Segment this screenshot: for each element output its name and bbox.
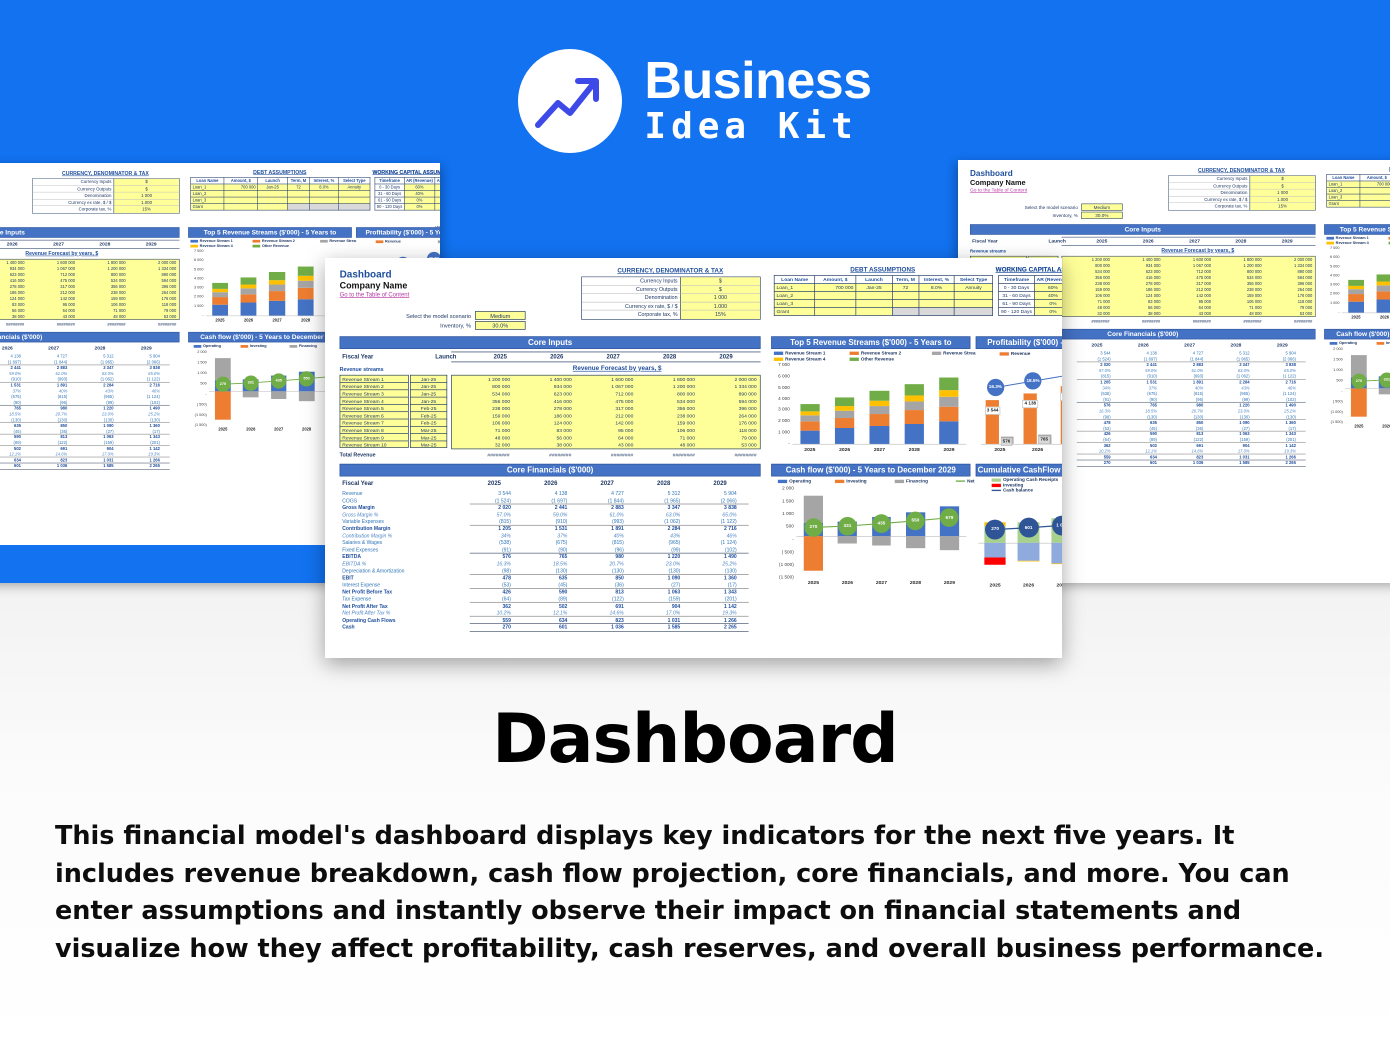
table-row: 90 - 120 Days0%40% [375, 204, 440, 211]
revenue-forecast-cell[interactable]: 623 000 [513, 390, 575, 397]
dashboard-screenshot-main[interactable]: DashboardCompany NameGo to the Table of … [325, 258, 1062, 658]
revenue-forecast-cell[interactable]: 48 000 [452, 434, 514, 441]
revenue-forecast-cell[interactable]: 278 000 [513, 405, 575, 412]
debt-cell[interactable] [224, 204, 257, 211]
cf-row-value: 1 220 [85, 406, 113, 411]
cf-row-label: Contribution Margin [342, 526, 390, 532]
cf-row-value: 34% [476, 533, 511, 539]
revenue-forecast-cell[interactable]: 159 000 [452, 412, 514, 419]
cf-row-value: 2 284 [646, 526, 681, 532]
revenue-forecast-cell[interactable]: 416 000 [513, 397, 575, 404]
revenue-forecast-cell[interactable]: 356 000 [637, 405, 699, 412]
cf-row-value: 980 [1175, 403, 1203, 408]
core-financials-header: Core Financials ($'000) [340, 464, 761, 477]
cf-row-value: 576 [476, 554, 511, 560]
cf-rule [0, 405, 170, 406]
chart-profitability[interactable]: Profitability ($'000) - 5 Years to Decem… [976, 336, 1062, 460]
bar-segment [269, 272, 285, 280]
revenue-forecast-cell[interactable]: 43 000 [1163, 310, 1214, 316]
wc-cell[interactable]: 60% [1034, 284, 1062, 292]
table-row: Revenue3 5444 1384 7275 3125 904 [340, 490, 761, 497]
debt-cell[interactable] [892, 307, 918, 315]
cf-row-value: 691 [1175, 443, 1203, 448]
table-row: 0 - 30 Days60%10% [999, 284, 1062, 292]
revenue-stream-name[interactable]: Revenue Stream 1 [340, 375, 409, 382]
cf-row-value: 46% [1268, 385, 1296, 390]
company-name: Company Name [970, 179, 1026, 187]
wc-cell[interactable]: 90 - 120 Days [999, 307, 1035, 315]
revenue-forecast-caption: Revenue Forecast by years, $ [0, 251, 176, 257]
cf-row-label: EBITDA [342, 554, 361, 560]
wc-cell[interactable]: 0 - 30 Days [375, 184, 404, 191]
cf-row-value: (965) [1221, 391, 1249, 396]
wc-cell[interactable]: 0% [1034, 300, 1062, 308]
revenue-forecast-cell[interactable]: 106 000 [637, 427, 699, 434]
revenue-forecast-cell[interactable]: 1 200 000 [637, 383, 699, 390]
chart-cashflow[interactable]: Cash flow ($'000) - 5 Years to December … [1324, 329, 1390, 436]
bar-segment [904, 395, 923, 401]
revenue-forecast-cell[interactable]: 38 000 [0, 313, 27, 319]
bar-segment [1377, 291, 1390, 300]
cf-row-value: (815) [589, 540, 624, 546]
table-row: EBITDA %16.3%18.5%20.7%23.0%25.2% [0, 412, 180, 417]
currency-row-value[interactable]: 1.000 [114, 199, 179, 206]
cf-row-value: 40% [39, 388, 67, 393]
bar-segment [939, 378, 958, 390]
currency-row-value[interactable]: 1 000 [1250, 190, 1315, 197]
currency-row: Denomination1 000 [33, 193, 179, 200]
revenue-stream-name[interactable]: Revenue Stream 6 [340, 411, 409, 418]
wc-cell[interactable]: 31 - 60 Days [375, 191, 404, 198]
revenue-forecast-cell[interactable]: 38 000 [1113, 310, 1164, 316]
revenue-forecast-row: 800 000934 0001 067 0001 200 0001 334 00… [452, 383, 760, 390]
legend-swatch [253, 240, 261, 243]
chart-top5-revenue[interactable]: Top 5 Revenue Streams ($'000) - 5 Years … [771, 336, 970, 460]
legend-swatch [850, 357, 859, 360]
cf-row-value: 635 [1129, 420, 1157, 425]
debt-cell[interactable] [919, 307, 955, 315]
wc-cell[interactable]: 61 - 90 Days [999, 300, 1035, 308]
revenue-forecast-cell[interactable]: 79 000 [698, 434, 760, 441]
inventory-input[interactable]: 30.0% [475, 321, 525, 330]
revenue-stream-launch[interactable]: Feb-25 [410, 419, 447, 426]
legend-swatch [190, 240, 198, 243]
y-tick: 4 000 [771, 396, 790, 401]
debt-cell[interactable] [919, 300, 955, 308]
cf-fiscal-row: Fiscal Year20252026202720282029 [0, 345, 180, 352]
debt-cell[interactable] [954, 307, 992, 315]
chart-cashflow[interactable]: Cash flow ($'000) - 5 Years to December … [771, 464, 970, 594]
y-tick: 7 000 [771, 363, 790, 368]
revenue-forecast-cell[interactable]: 1 600 000 [575, 376, 637, 383]
currency-row-label: Currency Inputs [1169, 176, 1250, 183]
revenue-forecast-cell[interactable]: 534 000 [452, 390, 514, 397]
bar-segment [212, 283, 228, 289]
currency-row-value[interactable]: $ [114, 186, 179, 193]
total-revenue-cell: ######## [636, 452, 694, 458]
data-bubble-net-cash: 550 [906, 512, 925, 531]
revenue-stream-launch[interactable]: Jan-25 [410, 389, 447, 396]
debt-col-header: Select Type [954, 276, 992, 284]
wc-cell[interactable]: 40% [435, 204, 440, 211]
bar-segment [835, 428, 854, 444]
revenue-stream-name[interactable]: Revenue Stream 8 [340, 426, 409, 433]
bar-segment [904, 401, 923, 410]
fiscal-year-label: Fiscal Year [342, 353, 395, 360]
revenue-stream-launch[interactable]: Jan-25 [410, 375, 447, 382]
bar-segment [269, 280, 285, 284]
debt-cell[interactable] [309, 204, 338, 211]
debt-cell[interactable]: Loan_1 [774, 284, 815, 292]
debt-cell[interactable] [892, 300, 918, 308]
cf-row-value: 5 312 [85, 354, 113, 359]
revenue-forecast-cell[interactable]: 1 334 000 [698, 383, 760, 390]
chart-top5-revenue[interactable]: Top 5 Revenue Streams ($'000) - 5 Years … [1324, 224, 1390, 325]
revenue-stream-launches: Jan-25Jan-25Jan-25Jan-25Feb-25Feb-25Feb-… [410, 375, 447, 448]
toc-link[interactable]: Go to the Table of Content [970, 187, 1027, 192]
debt-cell[interactable] [954, 300, 992, 308]
cf-row-value: 478 [476, 575, 511, 581]
cf-row-value: 502 [533, 603, 568, 609]
revenue-forecast-cell[interactable]: 934 000 [513, 383, 575, 390]
debt-cell[interactable] [856, 307, 893, 315]
cf-row-value: (538) [476, 540, 511, 546]
cf-row-value: 1 490 [132, 406, 160, 411]
bar-segment [241, 278, 257, 285]
toc-link[interactable]: Go to the Table of Content [340, 291, 410, 298]
currency-row-value[interactable]: 1 000 [680, 294, 760, 302]
currency-row: Corporate tax, %15% [582, 311, 760, 319]
cf-row-value: 18.5% [0, 412, 21, 417]
cf-rule [0, 457, 170, 458]
debt-cell[interactable]: Loan_2 [774, 292, 815, 300]
cf-row-value: 40% [589, 533, 624, 539]
debt-cell[interactable] [815, 292, 856, 300]
wc-cell[interactable]: 0 - 30 Days [999, 284, 1035, 292]
bar-segment [241, 303, 257, 316]
y-tick: 5 000 [1324, 264, 1339, 268]
revenue-forecast-cell[interactable]: 124 000 [513, 419, 575, 426]
page-description: This financial model's dashboard display… [55, 818, 1345, 969]
debt-cell[interactable] [339, 204, 370, 211]
cf-row-value: 59.0% [533, 512, 568, 518]
total-revenue-cell: ######## [1264, 319, 1312, 324]
revenue-forecast-row: 32 00038 00043 00048 00053 000 [1062, 310, 1315, 316]
cf-rule [0, 382, 170, 383]
currency-row-value[interactable]: 15% [1250, 203, 1315, 210]
revenue-forecast-cell[interactable]: 32 000 [452, 441, 514, 448]
debt-cell[interactable]: Grant [191, 204, 224, 211]
chart-legend-item: Revenue Stream 4 [1326, 241, 1368, 245]
cf-row-label: COGS [342, 497, 357, 503]
bar-segment [1377, 300, 1390, 313]
company-name: Company Name [340, 281, 408, 291]
currency-box-title: CURRENCY, DENOMINATOR & TAX [29, 171, 182, 177]
table-row: 31 - 60 Days40%20% [999, 292, 1062, 300]
cf-row-value: 3 544 [476, 490, 511, 496]
cf-rule [0, 364, 170, 365]
revenue-stream-name[interactable]: Revenue Stream 4 [340, 397, 409, 404]
currency-row: Currency Inputs$ [1169, 176, 1315, 183]
cf-row-value: 2 883 [39, 365, 67, 370]
revenue-forecast-cell[interactable]: 317 000 [575, 405, 637, 412]
year-header: 2025 [476, 353, 525, 360]
currency-row: Denomination1 000 [582, 294, 760, 302]
currency-row-value[interactable]: $ [680, 286, 760, 294]
debt-col-header: Interest, % [919, 276, 955, 284]
table-row: Salaries & Wages(538)(675)(815)(965)(1 1… [0, 394, 180, 399]
revenue-forecast-cell[interactable]: 43 000 [27, 313, 78, 319]
currency-row-value[interactable]: $ [1250, 183, 1315, 190]
fiscal-year-row: Fiscal YearLaunch20252026202720282029 [0, 241, 180, 248]
revenue-forecast-cell[interactable]: 2 000 000 [698, 376, 760, 383]
currency-row-value[interactable]: $ [114, 179, 179, 186]
revenue-stream-launch[interactable]: Mar-25 [410, 433, 447, 440]
revenue-forecast-cell[interactable]: 800 000 [637, 390, 699, 397]
debt-cell[interactable] [856, 292, 893, 300]
revenue-stream-name[interactable]: Revenue Stream 3 [340, 389, 409, 396]
scenario-select[interactable]: Medium [1081, 204, 1122, 211]
cf-row-value: 362 [1082, 443, 1110, 448]
revenue-forecast-cell[interactable]: 48 000 [78, 313, 129, 319]
revenue-forecast-cell[interactable]: 238 000 [452, 405, 514, 412]
revenue-forecast-cell[interactable]: 64 000 [575, 434, 637, 441]
debt-cell[interactable]: Loan_3 [774, 300, 815, 308]
cf-row-value: 502 [1129, 443, 1157, 448]
revenue-forecast-cell[interactable]: 71 000 [637, 434, 699, 441]
revenue-stream-name[interactable]: Revenue Stream 2 [340, 382, 409, 389]
year-header: 2026 [532, 353, 581, 360]
revenue-forecast-cell[interactable]: 83 000 [513, 427, 575, 434]
bar-segment [269, 301, 285, 316]
total-revenue-cell: ######## [78, 322, 126, 327]
debt-assumptions-table: Loan NameAmount, $LaunchTerm, MInterest,… [190, 177, 370, 210]
inventory-input[interactable]: 30.0% [1081, 212, 1122, 219]
revenue-forecast-cell[interactable]: 118 000 [698, 427, 760, 434]
cf-row-value: 601 [1129, 461, 1157, 466]
debt-cell[interactable]: Grant [1327, 201, 1360, 208]
wc-cell[interactable]: 40% [1034, 292, 1062, 300]
cf-row-value: (675) [533, 540, 568, 546]
debt-cell[interactable] [815, 300, 856, 308]
cf-row-value: 3 347 [85, 365, 113, 370]
cf-row-value: 2 284 [1221, 380, 1249, 385]
currency-row-value[interactable]: 1.000 [680, 302, 760, 310]
cf-rule [1077, 402, 1306, 403]
revenue-forecast-cell[interactable]: 38 000 [513, 441, 575, 448]
year-header: 2029 [701, 353, 750, 360]
cf-row-value: 635 [0, 423, 21, 428]
revenue-forecast-cell[interactable]: 71 000 [452, 427, 514, 434]
revenue-forecast-cell[interactable]: 800 000 [452, 383, 514, 390]
sheet-title: Dashboard [340, 269, 392, 280]
chart-legend-item: Revenue Stream 4 [774, 357, 826, 362]
debt-cell[interactable] [258, 204, 288, 211]
revenue-forecast-cell[interactable]: 43 000 [575, 441, 637, 448]
wc-cell[interactable]: 31 - 60 Days [999, 292, 1035, 300]
cf-row-value: 18.5% [1129, 409, 1157, 414]
cf-row-value: 5 904 [1268, 351, 1296, 356]
scenario-select[interactable]: Medium [475, 311, 525, 320]
debt-cell[interactable]: Jan-25 [856, 284, 893, 292]
revenue-forecast-cell[interactable]: 176 000 [698, 419, 760, 426]
revenue-stream-launch[interactable]: Jan-25 [410, 382, 447, 389]
wc-cell[interactable]: 0% [404, 204, 435, 211]
chart-legend-item: Other Revenue [253, 244, 289, 248]
debt-cell[interactable]: Grant [774, 307, 815, 315]
revenue-forecast-cell[interactable]: 475 000 [575, 397, 637, 404]
revenue-stream-name[interactable]: Revenue Stream 9 [340, 433, 409, 440]
chart-cumulative-cashflow[interactable]: Cumulative CashFlow ($'000) - 5 Years to… [976, 464, 1062, 594]
revenue-forecast-cell[interactable]: 1 800 000 [637, 376, 699, 383]
cf-row-value: 3 838 [1268, 362, 1296, 367]
revenue-forecast-cell[interactable]: 53 000 [128, 313, 179, 319]
data-bubble-net-cash: 435 [271, 373, 286, 388]
cf-row-value: 1 220 [646, 554, 681, 560]
cf-rule [0, 463, 170, 464]
cf-year-header: 2029 [1264, 342, 1300, 347]
currency-box: Currency Inputs$Currency Outputs$Denomin… [581, 277, 760, 320]
cf-row-value: (965) [646, 540, 681, 546]
cf-row-value: 502 [0, 446, 21, 451]
debt-cell[interactable] [288, 204, 310, 211]
debt-cell[interactable] [892, 292, 918, 300]
year-rule-top [0, 240, 180, 241]
y-tick: 3 000 [1324, 283, 1339, 287]
bar-segment [835, 406, 854, 411]
revenue-forecast-cell[interactable]: 1 200 000 [452, 376, 514, 383]
debt-cell[interactable]: 700 000 [815, 284, 856, 292]
revenue-forecast-cell[interactable]: 712 000 [575, 390, 637, 397]
chart-title: Top 5 Revenue Streams ($'000) - 5 Years … [188, 227, 351, 237]
debt-cell[interactable] [856, 300, 893, 308]
debt-assumptions-table: Loan NameAmount, $LaunchTerm, MInterest,… [774, 275, 993, 316]
data-bubble-net-cash: 270 [804, 518, 823, 537]
currency-row-value[interactable]: $ [680, 277, 760, 285]
debt-cell[interactable] [954, 292, 992, 300]
revenue-stream-launch[interactable]: Mar-25 [410, 426, 447, 433]
debt-cell[interactable]: 72 [892, 284, 918, 292]
cf-row-value: 1 063 [85, 435, 113, 440]
cf-row-value: 1 063 [1221, 432, 1249, 437]
revenue-forecast-cell[interactable]: 594 000 [698, 397, 760, 404]
table-row: Contribution Margin1 2051 5311 8912 2842… [340, 526, 761, 533]
currency-row-value[interactable]: $ [1250, 176, 1315, 183]
year-header: 2026 [0, 241, 32, 246]
inventory-label: Inventory, % [345, 322, 471, 329]
revenue-forecast-cell[interactable]: 48 000 [1214, 310, 1265, 316]
bar-segment [212, 305, 228, 316]
total-revenue-cell: ######## [1062, 319, 1110, 324]
currency-row-label: Currency Inputs [582, 277, 680, 285]
x-tick: 2025 [1342, 315, 1371, 320]
cf-row-value: 65.0% [132, 371, 160, 376]
bar-segment [298, 276, 314, 281]
cf-year-header: 2027 [585, 480, 629, 487]
revenue-forecast-cell[interactable]: 534 000 [637, 397, 699, 404]
cf-year-header: 2026 [529, 480, 573, 487]
debt-cell[interactable]: Annuity [954, 284, 992, 292]
revenue-forecast-cell[interactable]: 56 000 [513, 434, 575, 441]
cf-row-value: 1 585 [646, 624, 681, 630]
bar-segment [241, 288, 257, 294]
revenue-stream-launch[interactable]: Feb-25 [410, 404, 447, 411]
debt-cell[interactable] [919, 292, 955, 300]
revenue-forecast-cell[interactable]: 159 000 [637, 419, 699, 426]
y-tick: 1 000 [1324, 301, 1339, 305]
revenue-stream-name[interactable]: Revenue Stream 7 [340, 419, 409, 426]
cf-row-value: 813 [589, 589, 624, 595]
revenue-forecast-cell[interactable]: 212 000 [575, 412, 637, 419]
revenue-forecast-row: 159 000186 000212 000238 000264 000 [452, 412, 760, 419]
revenue-forecast-cell[interactable]: 186 000 [513, 412, 575, 419]
revenue-stream-names: Revenue Stream 1Revenue Stream 2Revenue … [340, 375, 409, 448]
bar-segment [1348, 280, 1364, 286]
revenue-stream-launch[interactable]: Mar-25 [410, 441, 447, 448]
revenue-forecast-cell[interactable]: 890 000 [698, 390, 760, 397]
revenue-forecast-cell[interactable]: 142 000 [575, 419, 637, 426]
cf-fiscal-row: Fiscal Year20252026202720282029 [340, 480, 761, 488]
currency-row-value[interactable]: 1 000 [114, 193, 179, 200]
cf-row-value: 1 090 [85, 423, 113, 428]
cf-year-header: 2026 [0, 345, 25, 350]
revenue-forecast-cell[interactable]: 396 000 [698, 405, 760, 412]
revenue-stream-launch[interactable]: Feb-25 [410, 411, 447, 418]
currency-row-value[interactable]: 1.000 [1250, 196, 1315, 203]
revenue-forecast-cell[interactable]: 32 000 [1062, 310, 1113, 316]
currency-row: Denomination1 000 [1169, 190, 1315, 197]
debt-col-header: Interest, % [309, 177, 338, 184]
total-revenue-values: ######################################## [0, 322, 180, 328]
cf-row-value: 850 [589, 575, 624, 581]
revenue-forecast-cell[interactable]: 48 000 [637, 441, 699, 448]
revenue-forecast-cell[interactable]: 238 000 [637, 412, 699, 419]
wc-cell[interactable]: 0% [1034, 307, 1062, 315]
cf-row-value: 2 265 [132, 464, 160, 469]
cf-row-value: 1 891 [589, 526, 624, 532]
revenue-forecast-cell[interactable]: 106 000 [452, 419, 514, 426]
revenue-forecast-cell[interactable]: 264 000 [698, 412, 760, 419]
cf-row-value: 34% [1082, 385, 1110, 390]
wc-cell[interactable]: 61 - 90 Days [375, 197, 404, 204]
revenue-forecast-row: 32 00038 00043 00048 00053 000 [0, 313, 179, 319]
revenue-forecast-cell[interactable]: 1 067 000 [575, 383, 637, 390]
cf-row-label: Contribution Margin % [342, 533, 392, 539]
bar-segment [870, 426, 889, 444]
bar-segment [835, 411, 854, 418]
cf-row-value: 980 [39, 406, 67, 411]
legend-swatch [932, 351, 941, 354]
revenue-forecast-cell[interactable]: 53 000 [1264, 310, 1315, 316]
debt-cell[interactable] [1360, 201, 1390, 208]
revenue-forecast-cell[interactable]: 95 000 [575, 427, 637, 434]
revenue-stream-launch[interactable]: Jan-25 [410, 397, 447, 404]
debt-cell[interactable]: 8.0% [919, 284, 955, 292]
revenue-stream-name[interactable]: Revenue Stream 5 [340, 404, 409, 411]
revenue-forecast-cell[interactable]: 356 000 [452, 397, 514, 404]
currency-row-value[interactable]: 15% [114, 206, 179, 213]
revenue-forecast-cell[interactable]: 1 400 000 [513, 376, 575, 383]
currency-row-value[interactable]: 15% [680, 311, 760, 319]
currency-box-title: CURRENCY, DENOMINATOR & TAX [1165, 168, 1318, 174]
revenue-stream-name[interactable]: Revenue Stream 10 [340, 441, 409, 448]
debt-cell[interactable] [815, 307, 856, 315]
table-row: Loan_2 [774, 292, 992, 300]
working-capital-table: TimeframeAR (Revenue)AP (COGS)0 - 30 Day… [375, 177, 440, 210]
cf-row-value: 2 020 [476, 504, 511, 510]
wc-cell[interactable]: 90 - 120 Days [375, 204, 404, 211]
revenue-forecast-cell[interactable]: 53 000 [698, 441, 760, 448]
